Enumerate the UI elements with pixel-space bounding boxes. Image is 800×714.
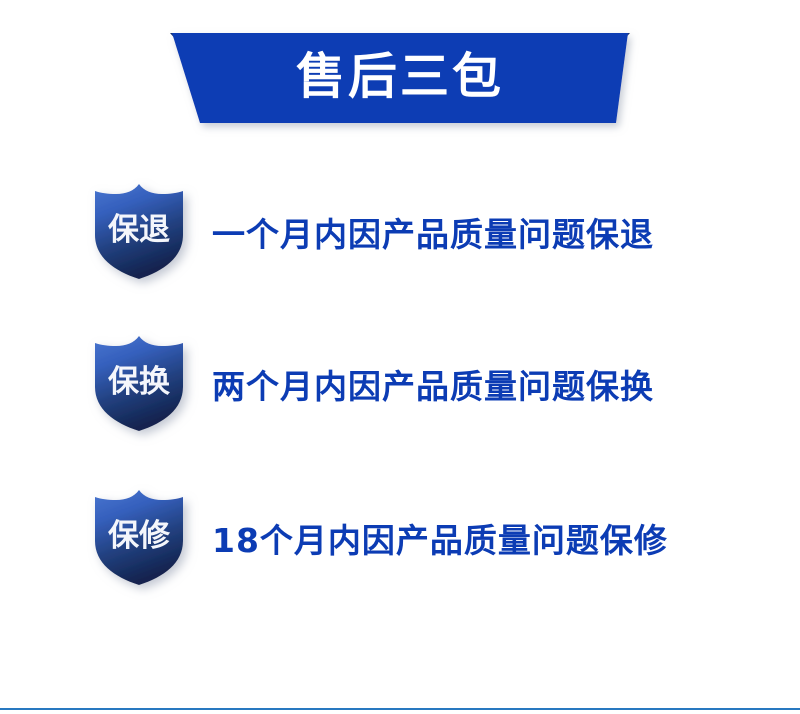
shield-label: 保退 [92, 183, 186, 277]
guarantee-row: 保退 一个月内因产品质量问题保退 [92, 182, 712, 288]
guarantee-text: 一个月内因产品质量问题保退 [212, 218, 654, 253]
guarantee-row: 保修 18个月内因产品质量问题保修 [92, 488, 712, 594]
guarantee-row: 保换 两个月内因产品质量问题保换 [92, 334, 712, 440]
guarantee-text: 两个月内因产品质量问题保换 [212, 370, 654, 405]
shield-label: 保换 [92, 335, 186, 429]
shield-icon: 保换 [92, 335, 186, 439]
bottom-divider [0, 708, 800, 710]
shield-icon: 保退 [92, 183, 186, 287]
page-root: 售后三包 [0, 0, 800, 714]
guarantee-list: 保退 一个月内因产品质量问题保退 [0, 0, 800, 714]
shield-icon: 保修 [92, 489, 186, 593]
shield-label: 保修 [92, 489, 186, 583]
guarantee-text: 18个月内因产品质量问题保修 [212, 524, 668, 559]
